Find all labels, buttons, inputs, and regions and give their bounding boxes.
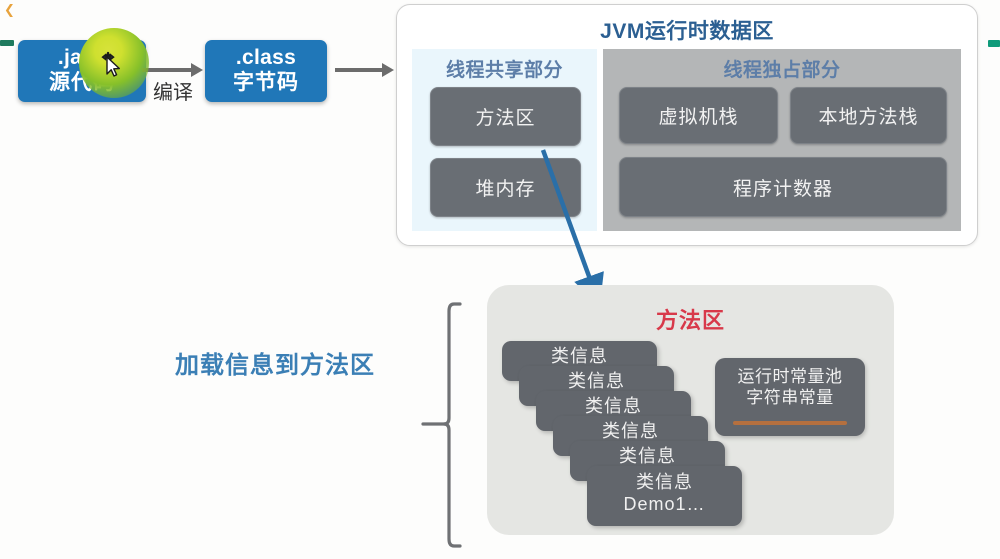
method-area-detail-title: 方法区 — [487, 303, 894, 335]
class-ext: .class — [236, 46, 296, 71]
program-counter-box[interactable]: 程序计数器 — [619, 157, 947, 217]
load-arrow — [335, 68, 383, 72]
class-label: 字节码 — [233, 71, 299, 96]
jvm-runtime-data-area-panel: JVM运行时数据区 线程共享部分 方法区 堆内存 线程独占部分 虚拟机栈 本地方… — [396, 4, 978, 246]
chevron-left-icon[interactable]: ❮ — [4, 3, 14, 17]
string-constant-line2: 字符串常量 — [715, 388, 865, 409]
runtime-constant-pool-box[interactable]: 运行时常量池 字符串常量 — [715, 358, 865, 436]
edge-marker-left — [0, 40, 14, 46]
load-info-annotation: 加载信息到方法区 — [175, 345, 420, 380]
compile-arrow — [142, 68, 192, 72]
class-bytecode-box[interactable]: .class 字节码 — [205, 40, 327, 102]
class-info-card-label: 类信息 — [570, 446, 725, 468]
thread-exclusive-title: 线程独占部分 — [603, 55, 961, 82]
class-info-card-demo-label: Demo1… — [587, 494, 742, 516]
jvm-panel-title: JVM运行时数据区 — [397, 15, 977, 45]
curly-bracket — [420, 300, 470, 550]
compile-label: 编译 — [142, 76, 204, 105]
class-info-card-label: 类信息 — [536, 396, 691, 418]
class-info-card-label: 类信息 — [553, 421, 708, 443]
class-info-card-label: 类信息 — [502, 346, 657, 368]
java-source-label: 源代码 — [49, 71, 115, 96]
java-source-box[interactable]: .java 源代码 — [18, 40, 146, 102]
string-constant-underline — [733, 421, 847, 425]
class-info-card-label: 类信息 — [587, 472, 742, 494]
diagram-canvas: ❮ .java 源代码 编译 .class 字节码 JVM运行时数据区 线程共享… — [0, 0, 1000, 559]
thread-shared-title: 线程共享部分 — [412, 55, 597, 82]
native-method-stack-box[interactable]: 本地方法栈 — [790, 87, 947, 144]
runtime-constant-pool-line1: 运行时常量池 — [715, 367, 865, 388]
java-source-ext: .java — [58, 46, 106, 71]
edge-marker-right — [988, 40, 1000, 47]
class-info-card-demo1[interactable]: 类信息 Demo1… — [587, 466, 742, 526]
class-info-card-label: 类信息 — [519, 371, 674, 393]
